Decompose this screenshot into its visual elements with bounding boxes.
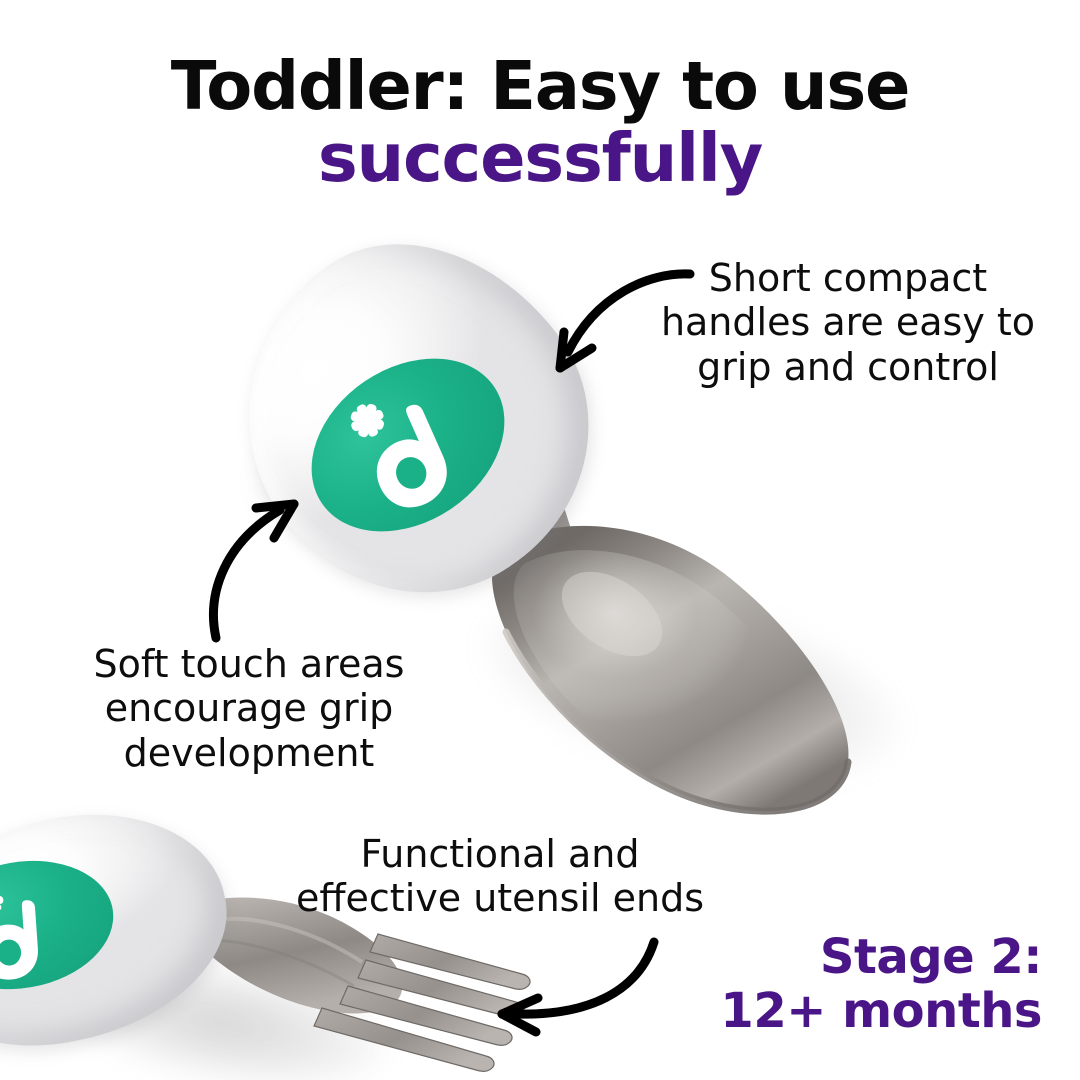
annotation-functional-utensil-ends: Functional and effective utensil ends (276, 832, 724, 921)
stage-badge: Stage 2: 12+ months (702, 930, 1042, 1038)
annotation-soft-touch-areas: Soft touch areas encourage grip developm… (54, 642, 444, 775)
headline: Toddler: Easy to use successfully (0, 52, 1080, 193)
infographic-canvas: Toddler: Easy to use successfully Short … (0, 0, 1080, 1080)
headline-line-2: successfully (0, 124, 1080, 192)
headline-line-1: Toddler: Easy to use (0, 52, 1080, 120)
annotation-short-compact-handles: Short compact handles are easy to grip a… (648, 256, 1048, 389)
